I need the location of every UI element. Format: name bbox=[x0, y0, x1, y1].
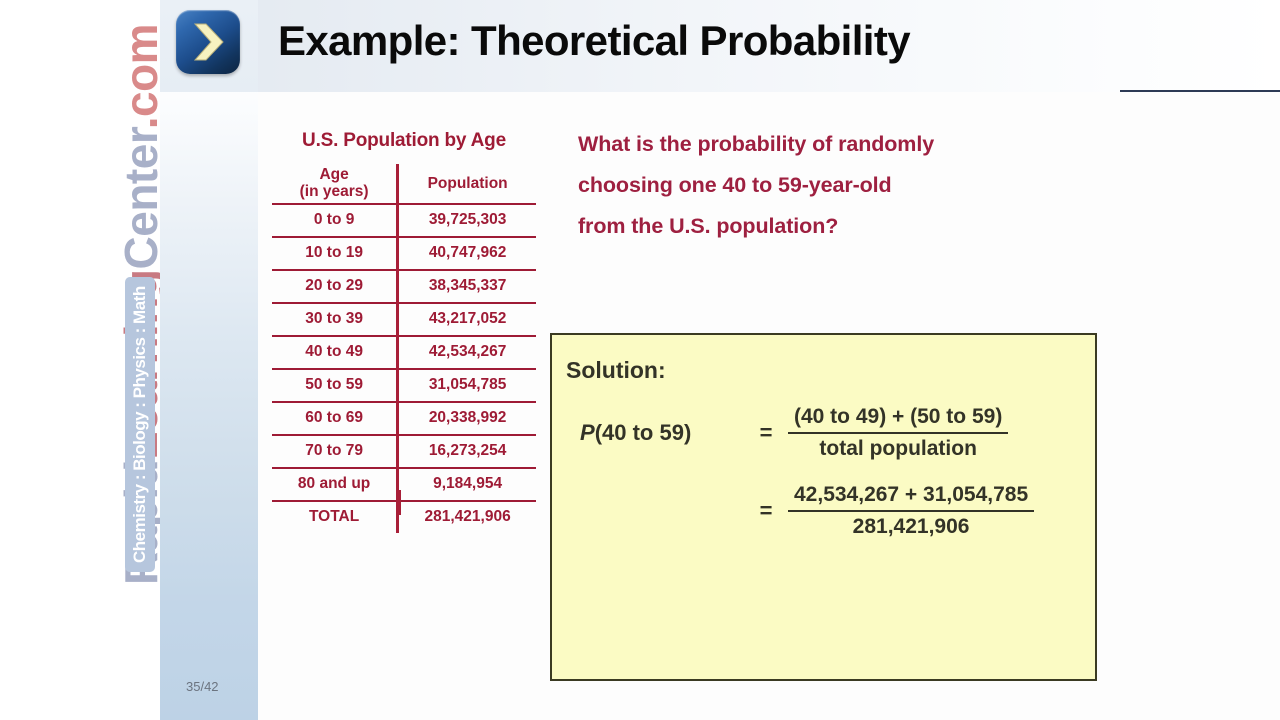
brand-logo-vertical: RapidLearningCenter.com Chemistry : Biol… bbox=[0, 0, 160, 720]
table-row: 60 to 69 20,338,992 bbox=[272, 402, 536, 435]
question-line-1: What is the probability of randomly bbox=[578, 132, 934, 156]
cell-population: 39,725,303 bbox=[398, 204, 536, 237]
cell-age: 10 to 19 bbox=[272, 237, 398, 270]
population-table: Age (in years) Population 0 to 9 39,725,… bbox=[272, 164, 536, 533]
fraction-numerator: 42,534,267 + 31,054,785 bbox=[788, 483, 1034, 512]
table-total-row: TOTAL 281,421,906 bbox=[272, 501, 536, 533]
table-row: 50 to 59 31,054,785 bbox=[272, 369, 536, 402]
chevron-right-icon bbox=[176, 10, 240, 74]
table-body: 0 to 9 39,725,303 10 to 19 40,747,962 20… bbox=[272, 204, 536, 533]
fraction-numerator: (40 to 49) + (50 to 59) bbox=[788, 405, 1008, 434]
table-divider-tail bbox=[398, 490, 401, 515]
table-row: 40 to 49 42,534,267 bbox=[272, 336, 536, 369]
cell-population: 31,054,785 bbox=[398, 369, 536, 402]
solution-box: Solution: P(40 to 59) = (40 to 49) + (50… bbox=[550, 333, 1097, 681]
fraction-denominator: 281,421,906 bbox=[788, 512, 1034, 539]
cell-age: 70 to 79 bbox=[272, 435, 398, 468]
probability-argument: (40 to 59) bbox=[595, 420, 692, 445]
question-line-3: from the U.S. population? bbox=[578, 214, 838, 238]
solution-equation-row-1: P(40 to 59) = (40 to 49) + (50 to 59) to… bbox=[566, 405, 1008, 461]
solution-fraction-2: 42,534,267 + 31,054,785 281,421,906 bbox=[788, 483, 1034, 539]
cell-population: 9,184,954 bbox=[398, 468, 536, 501]
table-row: 80 and up 9,184,954 bbox=[272, 468, 536, 501]
table-row: 30 to 39 43,217,052 bbox=[272, 303, 536, 336]
cell-population: 20,338,992 bbox=[398, 402, 536, 435]
header-accent-rule bbox=[1120, 90, 1280, 92]
fraction-denominator: total population bbox=[788, 434, 1008, 461]
table-title: U.S. Population by Age bbox=[272, 130, 536, 152]
cell-population: 42,534,267 bbox=[398, 336, 536, 369]
solution-lhs: P(40 to 59) bbox=[566, 420, 744, 446]
table-row: 10 to 19 40,747,962 bbox=[272, 237, 536, 270]
cell-age: 80 and up bbox=[272, 468, 398, 501]
page-number: 35/42 bbox=[186, 679, 219, 694]
probability-symbol: P bbox=[580, 420, 595, 445]
cell-population: 40,747,962 bbox=[398, 237, 536, 270]
question-text: What is the probability of randomly choo… bbox=[578, 124, 1098, 247]
equals-sign: = bbox=[744, 420, 788, 446]
cell-age: 30 to 39 bbox=[272, 303, 398, 336]
cell-total-population: 281,421,906 bbox=[398, 501, 536, 533]
cell-age: 40 to 49 bbox=[272, 336, 398, 369]
column-header-age-line1: Age bbox=[319, 166, 348, 183]
cell-age: 50 to 59 bbox=[272, 369, 398, 402]
cell-population: 43,217,052 bbox=[398, 303, 536, 336]
brand-logo-column: RapidLearningCenter.com Chemistry : Biol… bbox=[0, 0, 160, 720]
cell-population: 16,273,254 bbox=[398, 435, 536, 468]
solution-equation-row-2: = 42,534,267 + 31,054,785 281,421,906 bbox=[566, 483, 1034, 539]
population-table-container: U.S. Population by Age Age (in years) Po… bbox=[272, 130, 536, 533]
cell-age: 60 to 69 bbox=[272, 402, 398, 435]
column-header-age: Age (in years) bbox=[272, 164, 398, 204]
table-row: 70 to 79 16,273,254 bbox=[272, 435, 536, 468]
table-row: 0 to 9 39,725,303 bbox=[272, 204, 536, 237]
column-header-population: Population bbox=[398, 164, 536, 204]
cell-total-label: TOTAL bbox=[272, 501, 398, 533]
cell-age: 20 to 29 bbox=[272, 270, 398, 303]
column-header-age-line2: (in years) bbox=[300, 183, 369, 200]
solution-label: Solution: bbox=[566, 357, 666, 384]
table-header-row: Age (in years) Population bbox=[272, 164, 536, 204]
page-title: Example: Theoretical Probability bbox=[278, 17, 910, 65]
equals-sign: = bbox=[744, 498, 788, 524]
slide-side-strip bbox=[160, 0, 258, 720]
cell-age: 0 to 9 bbox=[272, 204, 398, 237]
cell-population: 38,345,337 bbox=[398, 270, 536, 303]
table-header: Age (in years) Population bbox=[272, 164, 536, 204]
brand-tagline: Chemistry : Biology : Physics : Math bbox=[125, 277, 155, 572]
question-line-2: choosing one 40 to 59-year-old bbox=[578, 173, 892, 197]
table-row: 20 to 29 38,345,337 bbox=[272, 270, 536, 303]
solution-fraction-1: (40 to 49) + (50 to 59) total population bbox=[788, 405, 1008, 461]
